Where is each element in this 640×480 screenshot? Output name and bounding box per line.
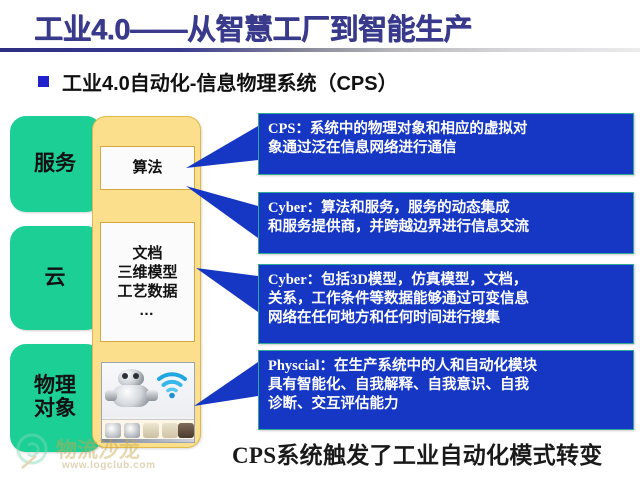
title-divider bbox=[0, 48, 640, 52]
callout-cyber-models[interactable]: Cyber：包括3D模型，仿真模型，文档， 关系，工作条件等数据能够通过可变信息… bbox=[258, 264, 634, 344]
stage-label-physical-line1: 物理 bbox=[12, 375, 98, 398]
thumbnail-scrollbar[interactable] bbox=[102, 439, 194, 443]
stage-box-cloud[interactable]: 云 bbox=[10, 226, 102, 330]
stage-label-cloud: 云 bbox=[12, 267, 98, 290]
callout-tail-physcial bbox=[194, 362, 258, 406]
callout-cyber-models-line3: 网络在任何地方和任何时间进行搜集 bbox=[268, 309, 625, 328]
callout-cyber-models-line2: 关系，工作条件等数据能够通过可变信息 bbox=[268, 290, 625, 309]
callout-cps-line1: CPS：系统中的物理对象和相应的虚拟对 bbox=[268, 120, 625, 139]
card-data-assets[interactable]: 文档 三维模型 工艺数据 … bbox=[100, 222, 195, 342]
stage-label-physical: 物理 对象 bbox=[12, 375, 98, 420]
callout-tail-cyber-models bbox=[196, 268, 258, 312]
card-data-assets-text: 文档 三维模型 工艺数据 … bbox=[117, 244, 177, 321]
stage-label-service: 服务 bbox=[12, 153, 98, 176]
stage-box-service[interactable]: 服务 bbox=[10, 116, 102, 212]
thumb-3 bbox=[143, 423, 159, 438]
card-line-document: 文档 bbox=[117, 244, 177, 263]
robot-eye-right-icon bbox=[133, 373, 139, 379]
card-physical-picture[interactable] bbox=[101, 362, 195, 443]
callout-cyber-models-text: Cyber：包括3D模型，仿真模型，文档， 关系，工作条件等数据能够通过可变信息… bbox=[259, 265, 633, 332]
watermark-url: www.logclub.com bbox=[62, 460, 156, 471]
subheading: 工业4.0自动化-信息物理系统（CPS） bbox=[38, 67, 398, 96]
robot-torso-icon bbox=[112, 385, 150, 407]
square-bullet-icon bbox=[38, 76, 49, 87]
card-line-3dmodel: 三维模型 bbox=[117, 263, 177, 282]
thumb-1 bbox=[105, 423, 121, 438]
robot-eye-left-icon bbox=[122, 373, 128, 379]
card-line-ellipsis: … bbox=[117, 301, 177, 320]
stage-label-physical-line2: 对象 bbox=[12, 398, 98, 421]
slide-caption: CPS系统触发了工业自动化模式转变 bbox=[232, 436, 603, 470]
thumb-5 bbox=[178, 423, 194, 438]
callout-cyber-services[interactable]: Cyber：算法和服务，服务的动态集成 和服务提供商，并跨越边界进行信息交流 bbox=[258, 192, 634, 254]
thumb-2 bbox=[124, 423, 140, 438]
wifi-icon bbox=[156, 371, 188, 399]
callout-cps[interactable]: CPS：系统中的物理对象和相应的虚拟对 象通过泛在信息网络进行通信 bbox=[258, 113, 634, 175]
callout-cyber-services-line1: Cyber：算法和服务，服务的动态集成 bbox=[268, 199, 625, 218]
robot-thumbnail-strip bbox=[102, 419, 194, 443]
callout-physcial-line2: 具有智能化、自我解释、自我意识、自我 bbox=[268, 376, 625, 395]
robot-icon bbox=[102, 363, 194, 417]
callout-cyber-services-text: Cyber：算法和服务，服务的动态集成 和服务提供商，并跨越边界进行信息交流 bbox=[259, 193, 633, 241]
callout-physcial-line1: Physcial：在生产系统中的人和自动化模块 bbox=[268, 357, 625, 376]
slide-canvas: 工业4.0——从智慧工厂到智能生产 工业4.0自动化-信息物理系统（CPS） 服… bbox=[0, 0, 640, 480]
callout-cyber-models-line1: Cyber：包括3D模型，仿真模型，文档， bbox=[268, 271, 625, 290]
stage-box-physical[interactable]: 物理 对象 bbox=[10, 344, 102, 452]
card-algorithm[interactable]: 算法 bbox=[100, 146, 195, 190]
subheading-label: 工业4.0自动化-信息物理系统（CPS） bbox=[62, 67, 398, 96]
callout-physcial[interactable]: Physcial：在生产系统中的人和自动化模块 具有智能化、自我解释、自我意识、… bbox=[258, 350, 634, 430]
page-title: 工业4.0——从智慧工厂到智能生产 bbox=[34, 6, 472, 48]
callout-cyber-services-line2: 和服务提供商，并跨越边界进行信息交流 bbox=[268, 218, 625, 237]
callout-cps-text: CPS：系统中的物理对象和相应的虚拟对 象通过泛在信息网络进行通信 bbox=[259, 114, 633, 162]
card-line-processdata: 工艺数据 bbox=[117, 282, 177, 301]
callout-physcial-text: Physcial：在生产系统中的人和自动化模块 具有智能化、自我解释、自我意识、… bbox=[259, 351, 633, 418]
thumb-4 bbox=[162, 423, 178, 438]
callout-physcial-line3: 诊断、交互评估能力 bbox=[268, 395, 625, 414]
robot-arm-left-icon bbox=[105, 390, 117, 401]
card-algorithm-text: 算法 bbox=[132, 158, 162, 177]
callout-cps-line2: 象通过泛在信息网络进行通信 bbox=[268, 139, 625, 158]
